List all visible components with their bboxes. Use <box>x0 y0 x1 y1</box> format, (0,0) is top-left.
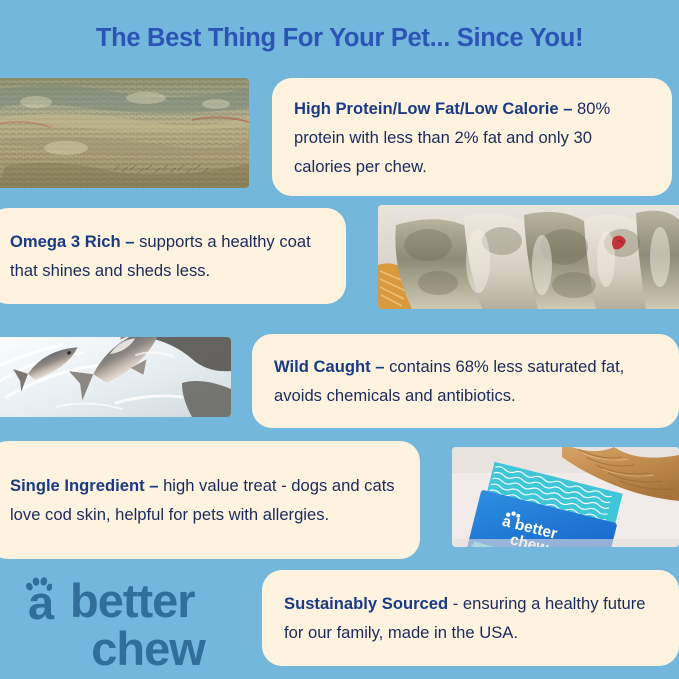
photo-cod-skin-texture <box>0 78 249 188</box>
brand-logo-word-better: better <box>70 579 195 623</box>
benefit-card-protein: High Protein/Low Fat/Low Calorie – 80% p… <box>272 78 672 196</box>
benefit-card-sustainably-sourced: Sustainably Sourced - ensuring a healthy… <box>262 570 679 666</box>
wild-salmon-art <box>0 337 231 417</box>
photo-product-package: a better chew COD SKIN <box>452 447 679 547</box>
brand-logo-letter-a: a <box>28 581 54 625</box>
benefit-text-protein: High Protein/Low Fat/Low Calorie – 80% p… <box>294 94 652 181</box>
photo-wild-salmon <box>0 337 231 417</box>
benefit-lead-single-ingredient: Single Ingredient – <box>10 476 158 495</box>
benefit-card-omega: Omega 3 Rich – supports a healthy coat t… <box>0 208 346 304</box>
photo-whole-cod-fish <box>378 205 679 309</box>
cod-skin-texture-art <box>0 78 249 188</box>
product-package-art: a better chew COD SKIN <box>452 447 679 547</box>
benefit-lead-wild-caught: Wild Caught – <box>274 357 384 376</box>
brand-logo-word-chew: chew <box>44 623 252 675</box>
benefit-card-wild-caught: Wild Caught – contains 68% less saturate… <box>252 334 679 428</box>
brand-logo-line-1: a better <box>22 575 252 623</box>
benefit-text-single-ingredient: Single Ingredient – high value treat - d… <box>10 471 400 529</box>
brand-logo-a-with-paw: a <box>22 575 66 623</box>
infographic-canvas: The Best Thing For Your Pet... Since You… <box>0 0 679 679</box>
benefit-text-omega: Omega 3 Rich – supports a healthy coat t… <box>10 227 326 285</box>
brand-logo: a better chew <box>22 575 252 671</box>
benefit-card-single-ingredient: Single Ingredient – high value treat - d… <box>0 441 420 559</box>
benefit-lead-sustainably-sourced: Sustainably Sourced <box>284 594 448 613</box>
page-title: The Best Thing For Your Pet... Since You… <box>0 24 679 53</box>
benefit-text-sustainably-sourced: Sustainably Sourced - ensuring a healthy… <box>284 589 659 647</box>
benefit-lead-omega: Omega 3 Rich – <box>10 232 135 251</box>
benefit-text-wild-caught: Wild Caught – contains 68% less saturate… <box>274 352 659 410</box>
benefit-lead-protein: High Protein/Low Fat/Low Calorie – <box>294 99 572 118</box>
whole-cod-fish-art <box>378 205 679 309</box>
